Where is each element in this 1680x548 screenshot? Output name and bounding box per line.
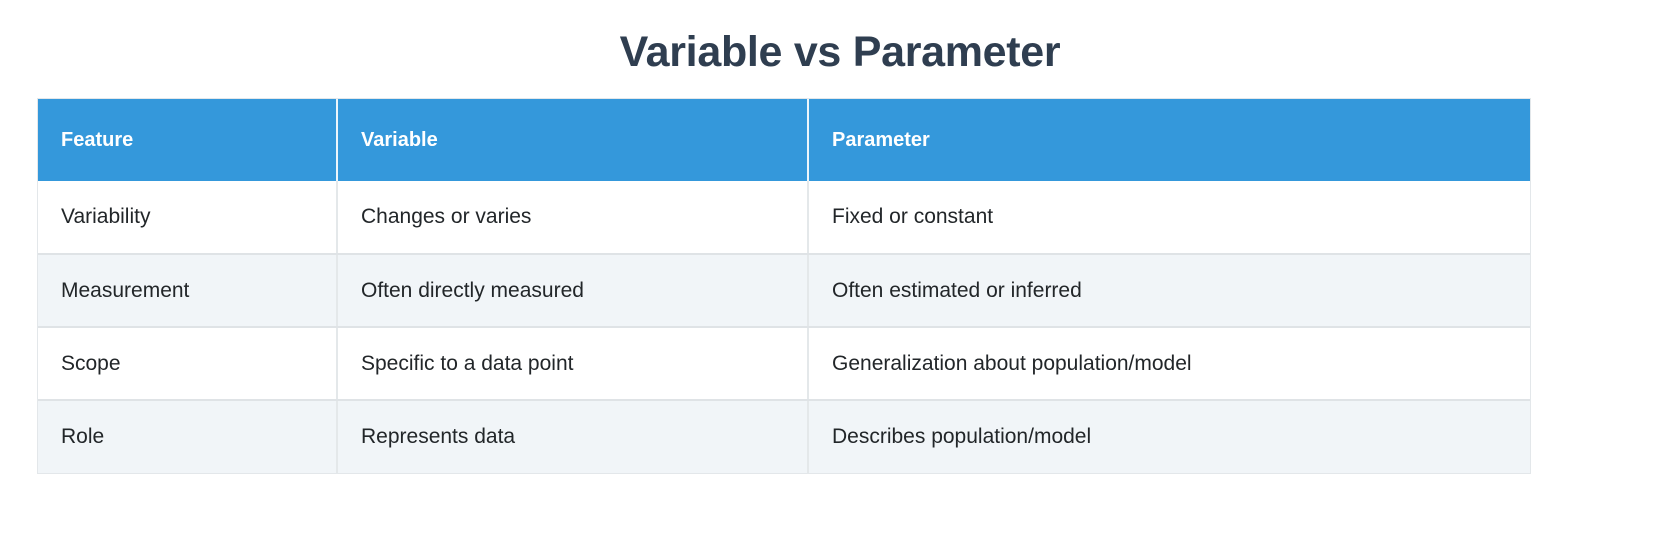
comparison-table: Feature Variable Parameter Variability C…: [38, 99, 1530, 473]
column-header-feature[interactable]: Feature: [38, 99, 337, 181]
cell-parameter: Generalization about population/model: [808, 327, 1530, 400]
table-row: Scope Specific to a data point Generaliz…: [38, 327, 1530, 400]
cell-parameter: Describes population/model: [808, 400, 1530, 473]
cell-parameter: Fixed or constant: [808, 181, 1530, 254]
cell-feature: Scope: [38, 327, 337, 400]
cell-variable: Represents data: [337, 400, 808, 473]
table-header-row: Feature Variable Parameter: [38, 99, 1530, 181]
table-row: Role Represents data Describes populatio…: [38, 400, 1530, 473]
cell-variable: Often directly measured: [337, 254, 808, 327]
page-root: Variable vs Parameter Feature Variable P…: [0, 0, 1680, 548]
cell-feature: Measurement: [38, 254, 337, 327]
cell-feature: Role: [38, 400, 337, 473]
column-header-variable[interactable]: Variable: [337, 99, 808, 181]
table-row: Measurement Often directly measured Ofte…: [38, 254, 1530, 327]
cell-variable: Specific to a data point: [337, 327, 808, 400]
column-header-parameter[interactable]: Parameter: [808, 99, 1530, 181]
cell-feature: Variability: [38, 181, 337, 254]
table-header: Feature Variable Parameter: [38, 99, 1530, 181]
comparison-table-container: Feature Variable Parameter Variability C…: [38, 99, 1530, 473]
table-body: Variability Changes or varies Fixed or c…: [38, 181, 1530, 473]
page-title: Variable vs Parameter: [0, 0, 1680, 80]
table-row: Variability Changes or varies Fixed or c…: [38, 181, 1530, 254]
cell-parameter: Often estimated or inferred: [808, 254, 1530, 327]
cell-variable: Changes or varies: [337, 181, 808, 254]
